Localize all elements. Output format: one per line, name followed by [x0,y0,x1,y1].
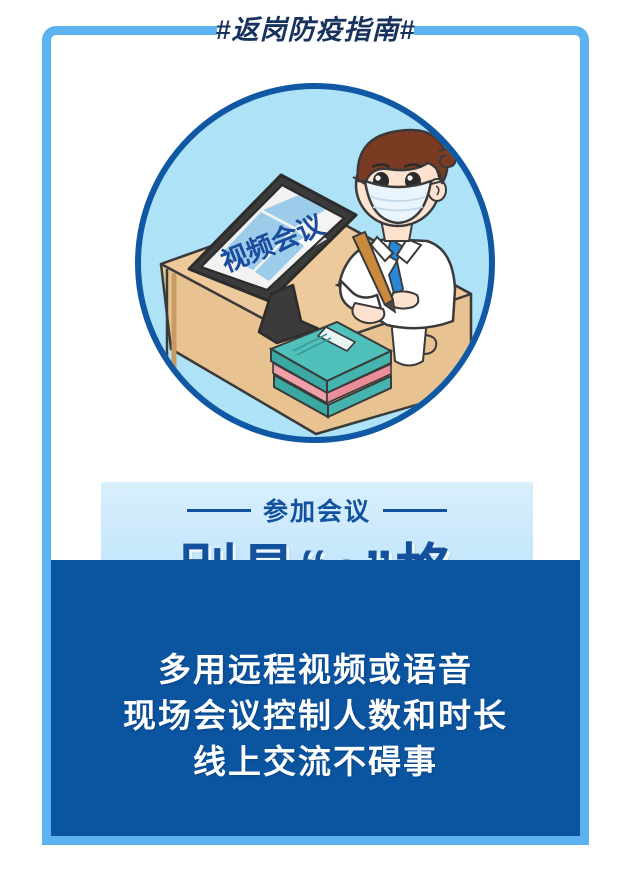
banner-eyebrow: 参加会议 [97,492,537,528]
body-panel: 多用远程视频或语音 现场会议控制人数和时长 线上交流不碍事 [51,560,580,836]
frame-side-right [580,180,589,820]
body-line-3: 线上交流不碍事 [51,740,580,786]
video-conference-illustration: 视频会议 [141,89,495,443]
frame-side-left [42,180,51,820]
body-line-2: 现场会议控制人数和时长 [51,694,580,740]
body-text-block: 多用远程视频或语音 现场会议控制人数和时长 线上交流不碍事 [51,648,580,786]
eyebrow-text: 参加会议 [263,492,371,528]
body-line-1: 多用远程视频或语音 [51,648,580,694]
frame-corner-bottom-left [42,819,51,845]
eyebrow-rule-right [383,509,447,512]
illustration-circle: 视频会议 [135,83,495,443]
illustration-circle-ring: 视频会议 [135,83,495,443]
frame-bottom-bar [42,836,589,845]
eyebrow-rule-left [187,509,251,512]
frame-corner-bottom-right [580,819,589,845]
poster-root: #返岗防疫指南# [0,0,631,883]
page-title: #返岗防疫指南# [0,8,631,47]
person-icon [339,130,455,328]
